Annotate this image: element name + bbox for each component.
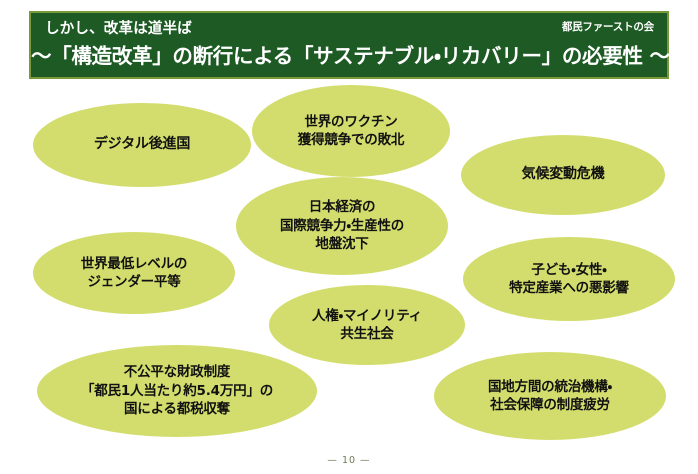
issue-bubble-governance-social-security: 国地方間の統治機構・ 社会保障の制度疲労 [434,352,666,440]
issue-bubble-vaccine-competition: 世界のワクチン 獲得競争での敗北 [252,85,450,177]
issue-bubble-label: 世界最低レベルの ジェンダー平等 [75,255,193,292]
issue-bubble-label: 不公平な財政制度 「都民1人当たり約5.4万円」の 国による都税収奪 [75,363,279,418]
issue-bubble-japan-economy-decline: 日本経済の 国際競争力・生産性の 地盤沈下 [236,177,448,275]
slide-title: 〜「構造改革」の断行による「サステナブル・リカバリー」の必要性 〜 [31,39,667,69]
issue-bubble-climate-crisis: 気候変動危機 [461,135,665,215]
header-eyebrow-text: しかし、改革は道半ば [45,17,192,38]
issue-bubble-label: 日本経済の 国際競争力・生産性の 地盤沈下 [274,198,410,253]
issue-bubble-children-women-industry: 子ども・女性・ 特定産業への悪影響 [463,237,675,321]
issue-bubble-label: 気候変動危機 [516,165,611,184]
page-number: — 10 — [0,455,698,466]
issue-bubble-digital-laggard: デジタル後進国 [33,103,251,187]
issue-bubble-label: 国地方間の統治機構・ 社会保障の制度疲労 [482,378,618,415]
issue-bubble-gender-equality: 世界最低レベルの ジェンダー平等 [33,232,235,314]
slide-canvas: しかし、改革は道半ば 都民ファーストの会 〜「構造改革」の断行による「サステナブ… [0,0,698,474]
issue-bubble-label: 人権・マイノリティ 共生社会 [306,307,428,344]
party-logo-text: 都民ファーストの会 [562,19,654,34]
issue-bubble-label: 世界のワクチン 獲得競争での敗北 [292,113,410,150]
issue-bubble-unfair-fiscal-system: 不公平な財政制度 「都民1人当たり約5.4万円」の 国による都税収奪 [37,345,317,437]
issue-bubble-human-rights-minority: 人権・マイノリティ 共生社会 [269,285,465,365]
slide-header-band: しかし、改革は道半ば 都民ファーストの会 〜「構造改革」の断行による「サステナブ… [29,11,669,79]
issue-bubble-label: 子ども・女性・ 特定産業への悪影響 [503,261,635,298]
issue-bubble-label: デジタル後進国 [88,135,196,154]
